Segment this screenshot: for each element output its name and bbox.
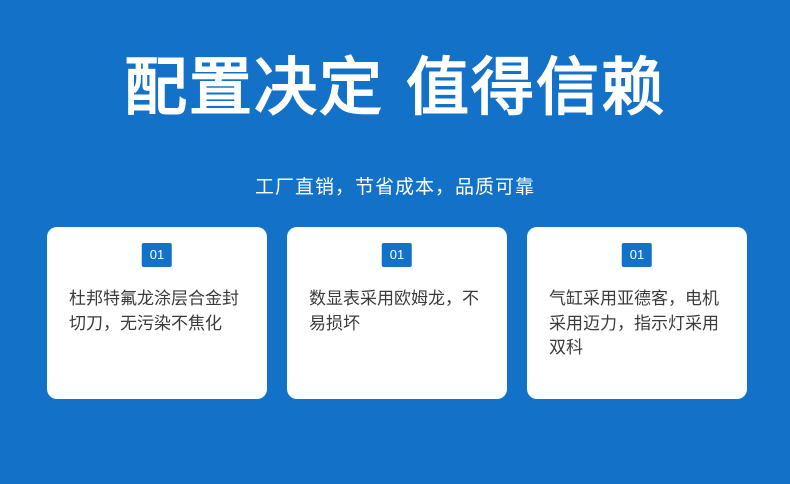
feature-card-text: 数显表采用欧姆龙，不易损坏: [309, 287, 489, 336]
feature-card: 01 杜邦特氟龙涂层合金封切刀，无污染不焦化: [47, 227, 267, 399]
feature-card: 01 数显表采用欧姆龙，不易损坏: [287, 227, 507, 399]
headline-part-1: 配置决定: [124, 53, 384, 123]
status-badge: 01: [382, 243, 412, 267]
promo-banner: 配置决定值得信赖 工厂直销，节省成本，品质可靠 01 杜邦特氟龙涂层合金封切刀，…: [0, 0, 790, 484]
status-badge: 01: [622, 243, 652, 267]
page-title: 配置决定值得信赖: [0, 52, 790, 124]
page-subtitle: 工厂直销，节省成本，品质可靠: [0, 172, 790, 199]
feature-card-text: 气缸采用亚德客，电机采用迈力，指示灯采用双科: [549, 287, 729, 361]
headline-part-2: 值得信赖: [406, 53, 666, 123]
feature-card-list: 01 杜邦特氟龙涂层合金封切刀，无污染不焦化 01 数显表采用欧姆龙，不易损坏 …: [47, 227, 747, 399]
feature-card-text: 杜邦特氟龙涂层合金封切刀，无污染不焦化: [69, 287, 249, 336]
feature-card: 01 气缸采用亚德客，电机采用迈力，指示灯采用双科: [527, 227, 747, 399]
status-badge: 01: [142, 243, 172, 267]
